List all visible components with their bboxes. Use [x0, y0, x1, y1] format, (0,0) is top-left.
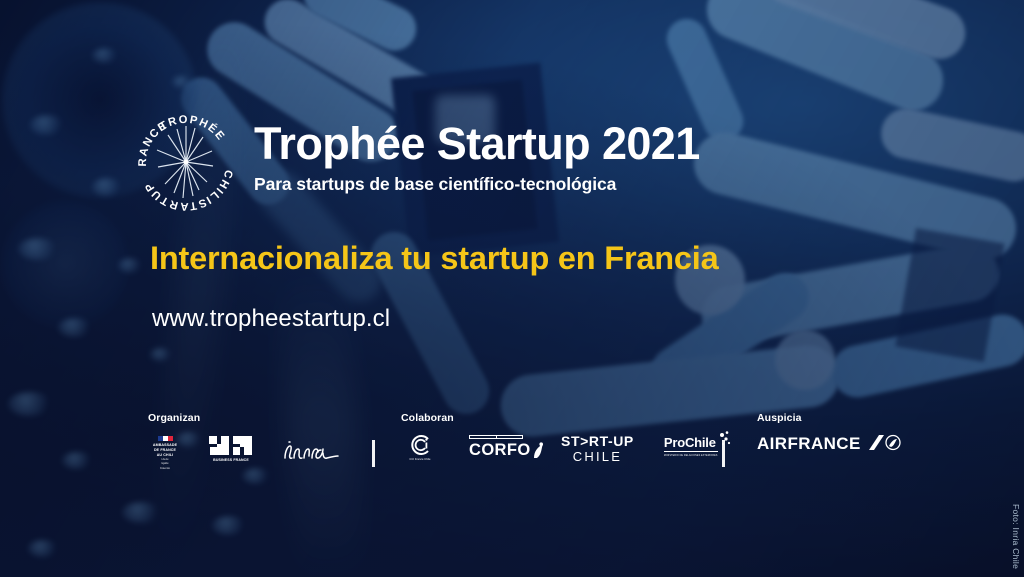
prochile-caption: MINISTERIO DE RELACIONES EXTERIORES: [664, 454, 726, 457]
french-flag-icon: [158, 436, 173, 441]
business-france-wordmark: BUSINESS FRANCE: [213, 458, 249, 462]
prochile-logo[interactable]: ProChile MINISTERIO DE RELACIONES EXTERI…: [664, 436, 726, 464]
sponsor-group-colaboran: Colaboran CCI France Chile: [401, 412, 726, 465]
trophee-startup-emblem: TROPHÉE FRANCE CHILI STARTUP: [127, 104, 245, 216]
emblem-word-chili: CHILI: [203, 168, 235, 206]
corfo-wordmark: CORFO: [469, 442, 531, 459]
corfo-logo[interactable]: CORFO: [469, 435, 531, 465]
startup-chile-line-1: ST>RT-UP: [561, 434, 634, 449]
cci-caption: CCI France Chile: [409, 458, 430, 461]
ambassade-motto-3: Fraternité: [148, 468, 182, 471]
ambassade-line-3: AU CHILI: [148, 453, 182, 458]
svg-text:STARTUP: STARTUP: [142, 179, 208, 212]
business-france-logo[interactable]: BUSINESS FRANCE: [208, 434, 254, 468]
sponsor-divider-1: [372, 440, 375, 467]
page-title: Trophée Startup 2021: [254, 121, 700, 168]
business-france-arrows-icon: [209, 434, 253, 457]
headline-text: Internacionaliza tu startup en Francia: [150, 240, 719, 277]
sponsor-group-label: Auspicia: [757, 412, 901, 424]
sponsor-group-organizan: Organizan AMBASSADE DE FRANCE AU CHILI L…: [148, 412, 342, 468]
corfo-figure-icon: [532, 442, 545, 459]
startup-chile-line-2: CHILE: [561, 450, 634, 465]
sponsor-strip: Organizan AMBASSADE DE FRANCE AU CHILI L…: [0, 404, 1024, 474]
ambassade-motto-1: Liberté: [148, 459, 182, 462]
sponsor-group-label: Colaboran: [401, 412, 726, 424]
sponsor-divider-2: [722, 440, 725, 467]
air-france-wordmark: AIRFRANCE: [757, 435, 861, 452]
sponsor-group-label: Organizan: [148, 412, 342, 424]
emblem-word-startup: STARTUP: [142, 179, 208, 212]
svg-text:FRANCE: FRANCE: [127, 104, 170, 167]
prochile-underline: [664, 451, 718, 453]
emblem-word-france: FRANCE: [127, 104, 170, 167]
inria-script-icon: [280, 438, 342, 464]
photo-credit: Foto: Inria Chile: [1011, 504, 1021, 569]
ambassade-motto-2: Égalité: [148, 463, 182, 466]
svg-text:CHILI: CHILI: [203, 168, 235, 206]
website-url[interactable]: www.tropheestartup.cl: [152, 305, 390, 333]
cci-france-chile-logo[interactable]: CCI France Chile: [401, 434, 439, 465]
air-france-emblem-icon: [867, 434, 901, 452]
inria-logo[interactable]: [280, 438, 342, 464]
page-subtitle: Para startups de base científico-tecnoló…: [254, 174, 700, 195]
start-up-chile-logo[interactable]: ST>RT-UP CHILE: [561, 434, 634, 465]
corfo-bar-icon: [469, 435, 523, 439]
brand-lockup: TROPHÉE FRANCE CHILI STARTUP Trophée Sta…: [127, 104, 700, 216]
air-france-logo[interactable]: AIRFRANCE: [757, 434, 901, 452]
ambassade-de-france-au-chili-logo[interactable]: AMBASSADE DE FRANCE AU CHILI Liberté Éga…: [148, 436, 182, 466]
poster-canvas: TROPHÉE FRANCE CHILI STARTUP Trophée Sta…: [0, 0, 1024, 577]
cci-mark-icon: [408, 434, 432, 456]
sponsor-group-auspicia: Auspicia AIRFRANCE: [757, 412, 901, 452]
